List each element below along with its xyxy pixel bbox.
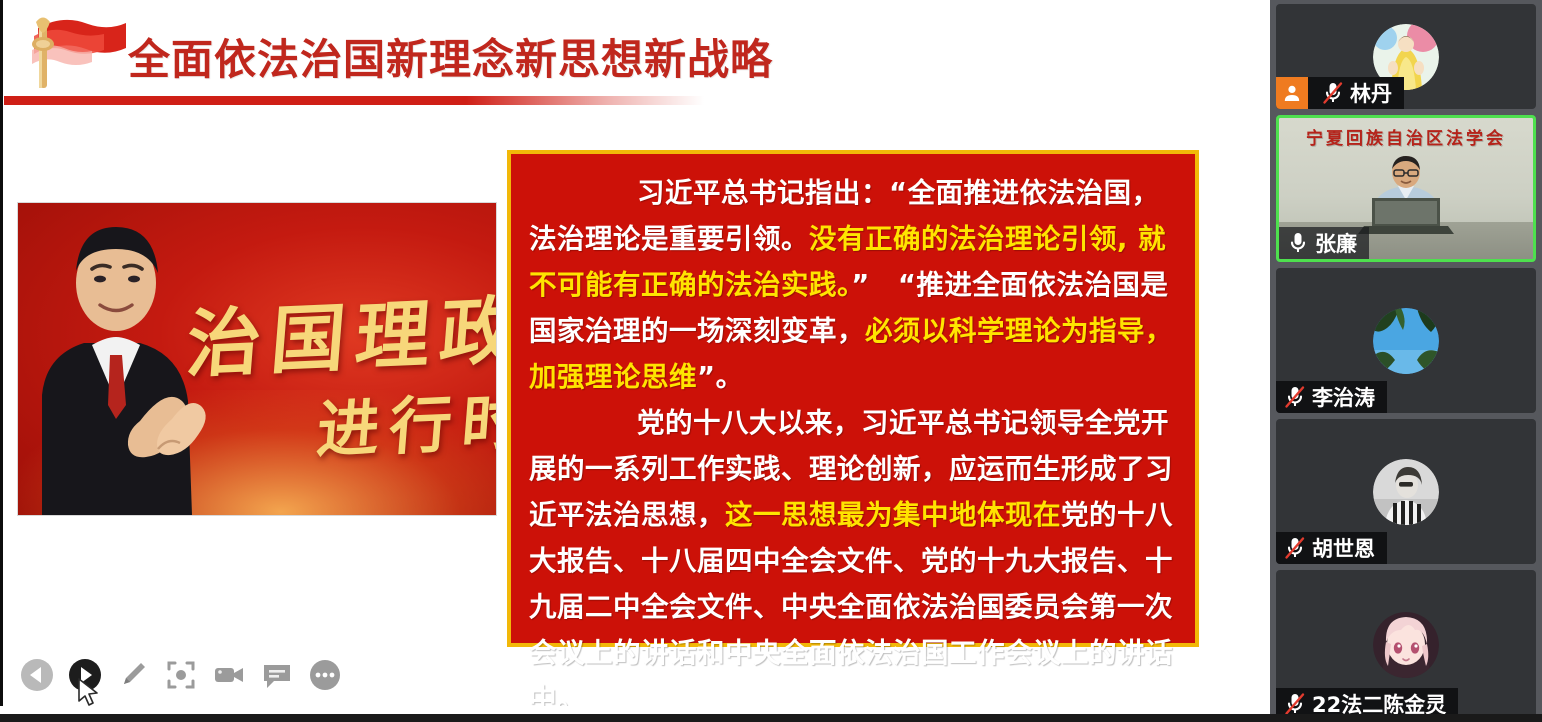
quote-text-run: ”。 [697, 361, 744, 393]
microphone-muted-icon [1322, 81, 1344, 105]
participant-tile[interactable]: 林丹 [1276, 4, 1536, 109]
calligraphy-line-2: 进行时 [314, 370, 497, 469]
shared-slide[interactable]: 全面依法治国新理念新思想新战略 治国理政 进行时 [0, 0, 1270, 714]
slide-photo: 治国理政 进行时 [17, 202, 497, 516]
participant-tile[interactable]: 22法二陈金灵 [1276, 570, 1536, 720]
microphone-icon [1287, 231, 1309, 255]
quote-text-run: 党的十八大报告、十八届四中全会文件、党的十九大报告、十九届二中全会文件、中央全面… [529, 499, 1173, 714]
slide-header: 全面依法治国新理念新思想新战略 [0, 0, 1270, 108]
annotate-button[interactable] [116, 658, 150, 692]
person-badge-icon [1276, 77, 1308, 109]
spotlight-button[interactable] [164, 658, 198, 692]
header-divider [4, 96, 704, 105]
microphone-muted-icon [1284, 536, 1306, 560]
arrow-pointer-icon [78, 678, 100, 708]
chat-button[interactable] [260, 658, 294, 692]
participant-name: 胡世恩 [1312, 533, 1375, 563]
avatar [1373, 459, 1439, 525]
quote-box: 习近平总书记指出：“全面推进依法治国，法治理论是重要引领。没有正确的法治理论引领… [507, 150, 1199, 647]
avatar [1373, 308, 1439, 374]
quote-highlight-run: 这一思想最为集中地体现在 [725, 499, 1061, 531]
participant-nameplate: 张廉 [1279, 227, 1369, 259]
slide-toolbar[interactable] [20, 658, 360, 702]
participant-nameplate: 林丹 [1276, 77, 1404, 109]
participant-nameplate: 胡世恩 [1276, 532, 1387, 564]
participant-tile[interactable]: 胡世恩 [1276, 419, 1536, 564]
previous-slide-button[interactable] [20, 658, 54, 692]
leader-portrait-figure [22, 205, 218, 515]
microphone-muted-icon [1284, 385, 1306, 409]
participant-tile[interactable]: 李治涛 [1276, 268, 1536, 413]
speaker-laptop [1358, 196, 1454, 236]
participant-name: 林丹 [1350, 78, 1392, 108]
participants-panel[interactable]: 林丹宁夏回族自治区法学会张廉李治涛胡世恩22法二陈金灵 [1270, 0, 1542, 722]
participant-nameplate: 李治涛 [1276, 381, 1387, 413]
taskbar [0, 714, 1542, 722]
more-options-button[interactable] [308, 658, 342, 692]
meeting-screen: 全面依法治国新理念新思想新战略 治国理政 进行时 [0, 0, 1542, 722]
participant-tile[interactable]: 宁夏回族自治区法学会张廉 [1276, 115, 1536, 262]
speaker-video-banner: 宁夏回族自治区法学会 [1279, 124, 1533, 149]
red-flag-torch-icon [8, 14, 130, 94]
quote-paragraph-1: 习近平总书记指出：“全面推进依法治国，法治理论是重要引领。没有正确的法治理论引领… [529, 170, 1177, 400]
slide-bottom-strip [0, 706, 1270, 714]
avatar [1373, 612, 1439, 678]
microphone-muted-icon [1284, 692, 1306, 716]
participant-name: 李治涛 [1312, 382, 1375, 412]
page-title: 全面依法治国新理念新思想新战略 [128, 26, 773, 87]
camera-button[interactable] [212, 658, 246, 692]
participant-name: 张廉 [1315, 228, 1357, 258]
quote-paragraph-2: 党的十八大以来，习近平总书记领导全党开展的一系列工作实践、理论创新，应运而生形成… [529, 400, 1177, 714]
